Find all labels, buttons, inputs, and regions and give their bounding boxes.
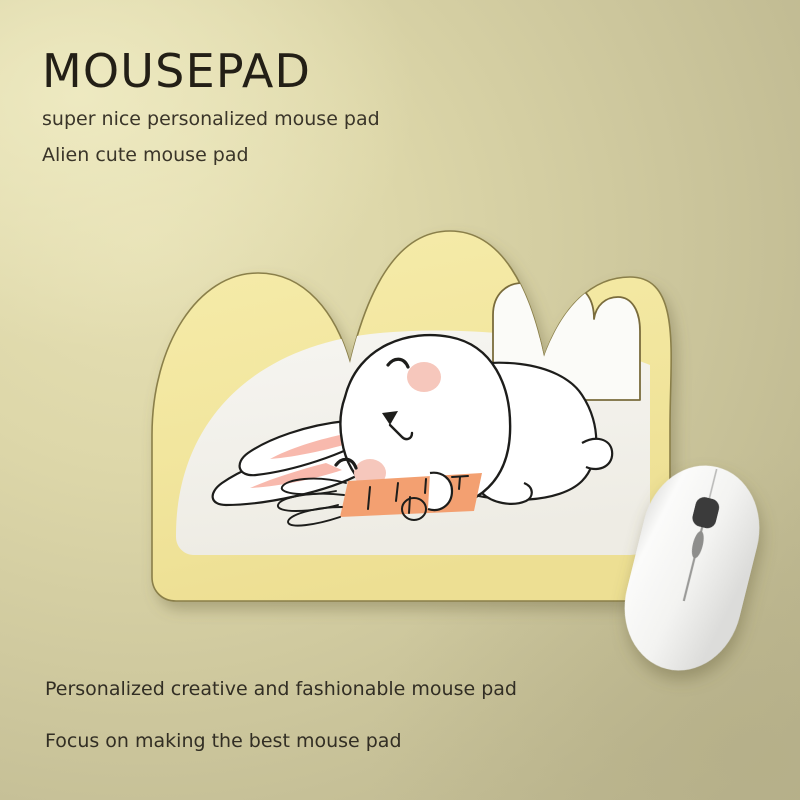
subtitle-line-1: super nice personalized mouse pad — [42, 110, 380, 129]
product-banner: MOUSEPAD super nice personalized mouse p… — [0, 0, 800, 800]
rabbit-blush-upper — [407, 362, 441, 392]
footer-line-2: Focus on making the best mouse pad — [45, 732, 517, 751]
mouse-body — [611, 453, 774, 683]
rabbit-front-paw — [428, 473, 452, 510]
subtitle-line-2: Alien cute mouse pad — [42, 146, 380, 165]
mouse-illustration — [592, 452, 792, 684]
wireless-mouse — [592, 452, 792, 684]
page-title: MOUSEPAD — [42, 48, 380, 94]
footer-line-1: Personalized creative and fashionable mo… — [45, 680, 517, 699]
header-text-block: MOUSEPAD super nice personalized mouse p… — [40, 48, 380, 182]
footer-text-block: Personalized creative and fashionable mo… — [45, 680, 517, 784]
